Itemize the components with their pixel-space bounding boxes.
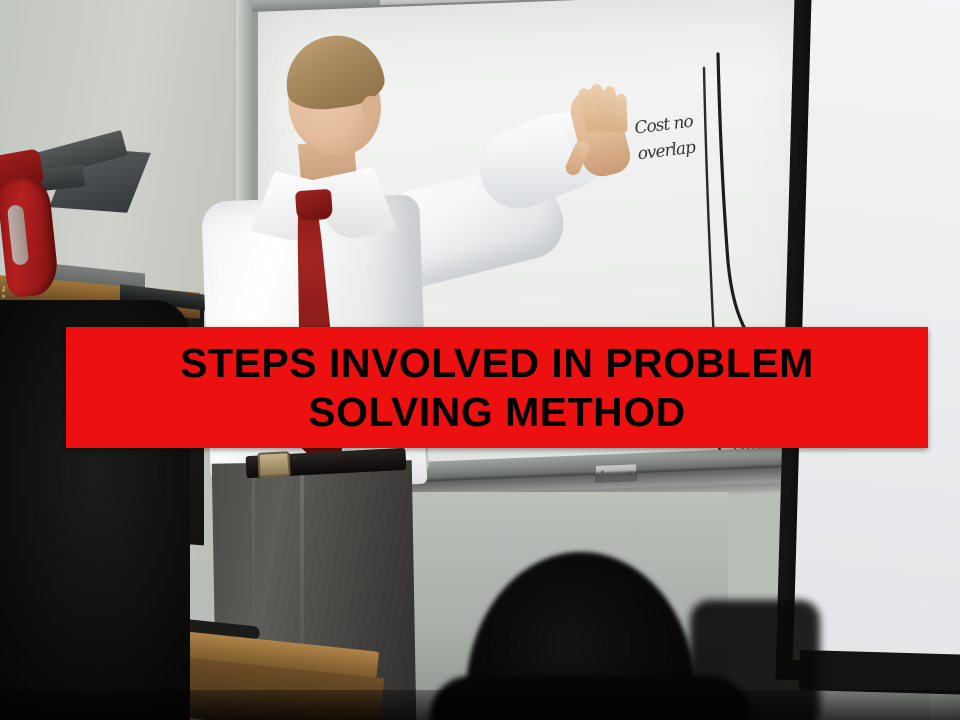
foreground-shadow <box>0 690 960 720</box>
presenter-finger <box>615 94 627 132</box>
whiteboard-handwriting-top: Cost nooverlap <box>633 109 697 168</box>
presenter-belt-buckle <box>257 451 290 478</box>
title-banner: STEPS INVOLVED IN PROBLEM SOLVING METHOD <box>66 327 928 448</box>
title-line-1: STEPS INVOLVED IN PROBLEM <box>180 339 814 387</box>
title-line-2: SOLVING METHOD <box>308 388 686 436</box>
projection-screen-bottom-bar <box>799 650 960 695</box>
presenter-necktie-knot <box>295 189 333 221</box>
presentation-slide: Cost nooverlap supply <box>0 0 960 720</box>
